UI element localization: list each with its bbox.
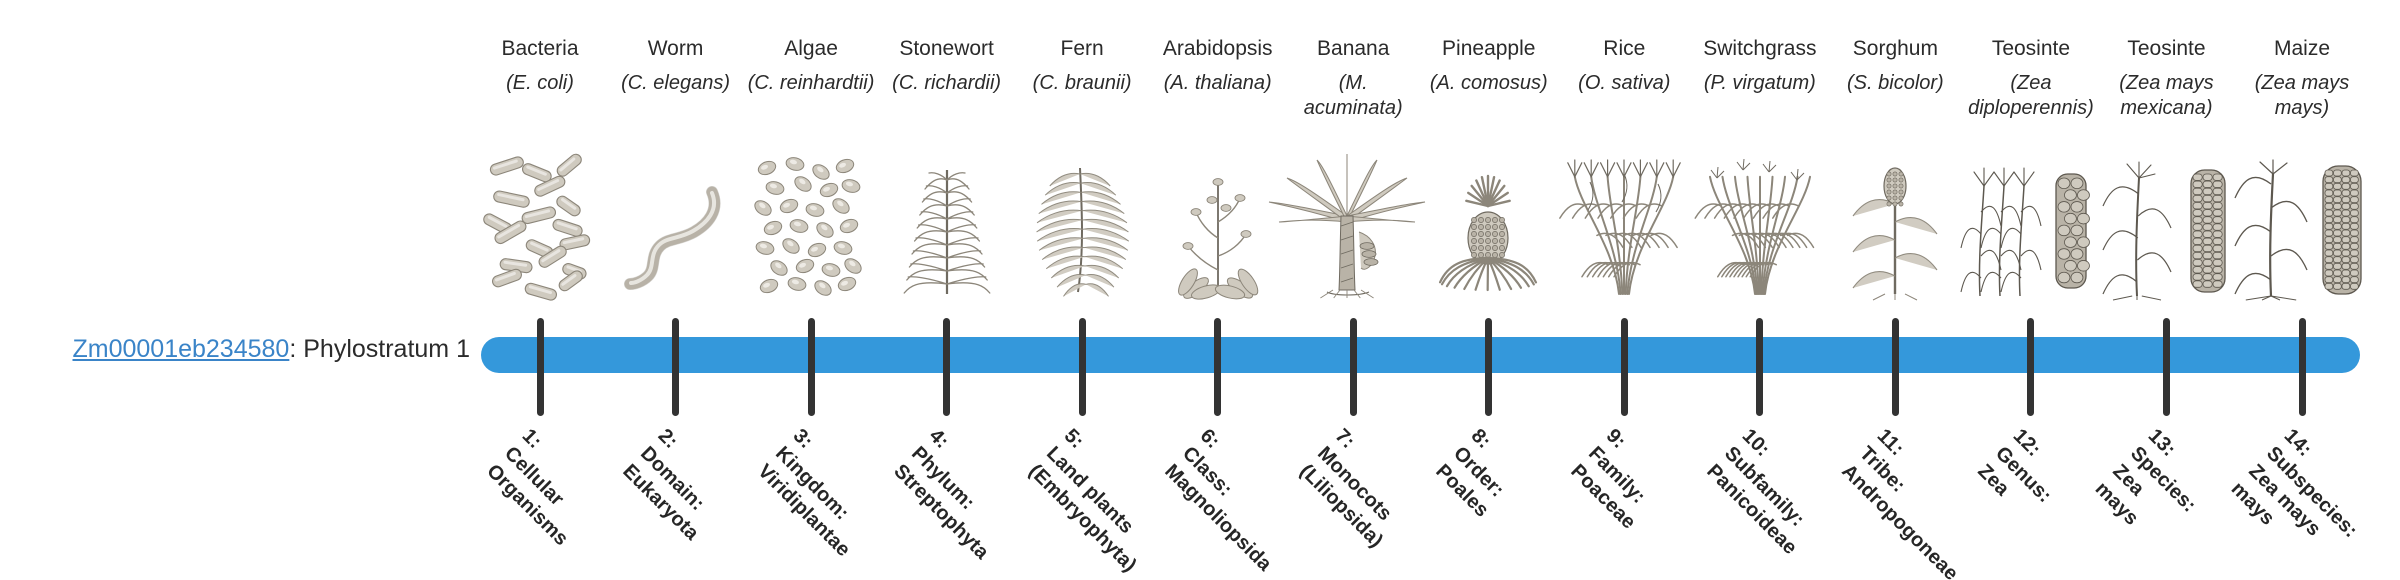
species-latin-name: (Zea mays mays) [2238, 71, 2366, 121]
species-latin-name: (E. coli) [476, 71, 604, 96]
species-latin-name: (C. braunii) [1018, 71, 1146, 96]
maize-plant-cob-icon [2232, 168, 2372, 300]
species-common-name: Algae [747, 36, 875, 62]
banana-plant-icon [1283, 168, 1423, 300]
species-header: Teosinte(Zea mays mexicana) [2102, 36, 2230, 121]
species-latin-name: (A. comosus) [1425, 71, 1553, 96]
rice-plant-icon [1554, 168, 1694, 300]
teosinte-plant-ear-icon [1961, 168, 2101, 300]
species-latin-name: (S. bicolor) [1831, 71, 1959, 96]
species-common-name: Arabidopsis [1154, 36, 1282, 62]
species-common-name: Maize [2238, 36, 2366, 62]
species-header: Banana(M. acuminata) [1289, 36, 1417, 121]
tick-mark[interactable] [672, 318, 679, 416]
species-header: Pineapple(A. comosus) [1425, 36, 1553, 96]
arabidopsis-rosette-icon [1148, 168, 1288, 300]
species-latin-name: (Zea mays mexicana) [2102, 71, 2230, 121]
gene-phylostratum-label: Zm00001eb234580: Phylostratum 1 [40, 334, 470, 364]
gene-id-link[interactable]: Zm00001eb234580 [72, 335, 289, 363]
phylostratum-track-bar[interactable] [481, 337, 2360, 373]
species-common-name: Fern [1018, 36, 1146, 62]
species-header: Bacteria(E. coli) [476, 36, 604, 96]
species-header: Sorghum(S. bicolor) [1831, 36, 1959, 96]
tick-mark[interactable] [1621, 318, 1628, 416]
species-common-name: Sorghum [1831, 36, 1959, 62]
species-common-name: Teosinte [2102, 36, 2230, 62]
pineapple-plant-icon [1419, 168, 1559, 300]
species-header: Rice(O. sativa) [1560, 36, 1688, 96]
tick-mark[interactable] [2299, 318, 2306, 416]
species-latin-name: (A. thaliana) [1154, 71, 1282, 96]
species-latin-name: (C. richardii) [883, 71, 1011, 96]
species-latin-name: (Zea diploperennis) [1967, 71, 2095, 121]
species-header: Stonewort(C. richardii) [883, 36, 1011, 96]
species-common-name: Bacteria [476, 36, 604, 62]
species-header: Maize(Zea mays mays) [2238, 36, 2366, 121]
bacteria-rods-icon [470, 168, 610, 300]
tick-mark[interactable] [1079, 318, 1086, 416]
green-algae-cells-icon [741, 168, 881, 300]
fern-frond-icon [1012, 168, 1152, 300]
species-header: Worm(C. elegans) [612, 36, 740, 96]
species-header: Arabidopsis(A. thaliana) [1154, 36, 1282, 96]
tick-mark[interactable] [1214, 318, 1221, 416]
tick-mark[interactable] [1892, 318, 1899, 416]
tick-mark[interactable] [2163, 318, 2170, 416]
switchgrass-clump-icon [1690, 168, 1830, 300]
tick-mark[interactable] [2027, 318, 2034, 416]
species-latin-name: (C. elegans) [612, 71, 740, 96]
species-header: Switchgrass(P. virgatum) [1696, 36, 1824, 96]
tick-mark[interactable] [1756, 318, 1763, 416]
species-common-name: Banana [1289, 36, 1417, 62]
sorghum-plant-icon [1825, 168, 1965, 300]
species-header: Fern(C. braunii) [1018, 36, 1146, 96]
species-header: Teosinte(Zea diploperennis) [1967, 36, 2095, 121]
tick-mark[interactable] [943, 318, 950, 416]
species-latin-name: (C. reinhardtii) [747, 71, 875, 96]
species-latin-name: (M. acuminata) [1289, 71, 1417, 121]
tick-mark[interactable] [537, 318, 544, 416]
species-common-name: Rice [1560, 36, 1688, 62]
species-common-name: Pineapple [1425, 36, 1553, 62]
stonewort-alga-icon [877, 168, 1017, 300]
teosinte-mexicana-ear-icon [2096, 168, 2236, 300]
species-common-name: Switchgrass [1696, 36, 1824, 62]
species-common-name: Teosinte [1967, 36, 2095, 62]
nematode-worm-icon [606, 168, 746, 300]
species-latin-name: (O. sativa) [1560, 71, 1688, 96]
tick-mark[interactable] [1485, 318, 1492, 416]
phylostratigraphy-figure: Zm00001eb234580: Phylostratum 1 Bacteria… [0, 0, 2400, 580]
species-common-name: Stonewort [883, 36, 1011, 62]
species-latin-name: (P. virgatum) [1696, 71, 1824, 96]
species-common-name: Worm [612, 36, 740, 62]
tick-mark[interactable] [808, 318, 815, 416]
gene-phylostratum-text: : Phylostratum 1 [289, 335, 470, 363]
tick-mark[interactable] [1350, 318, 1357, 416]
species-header: Algae(C. reinhardtii) [747, 36, 875, 96]
